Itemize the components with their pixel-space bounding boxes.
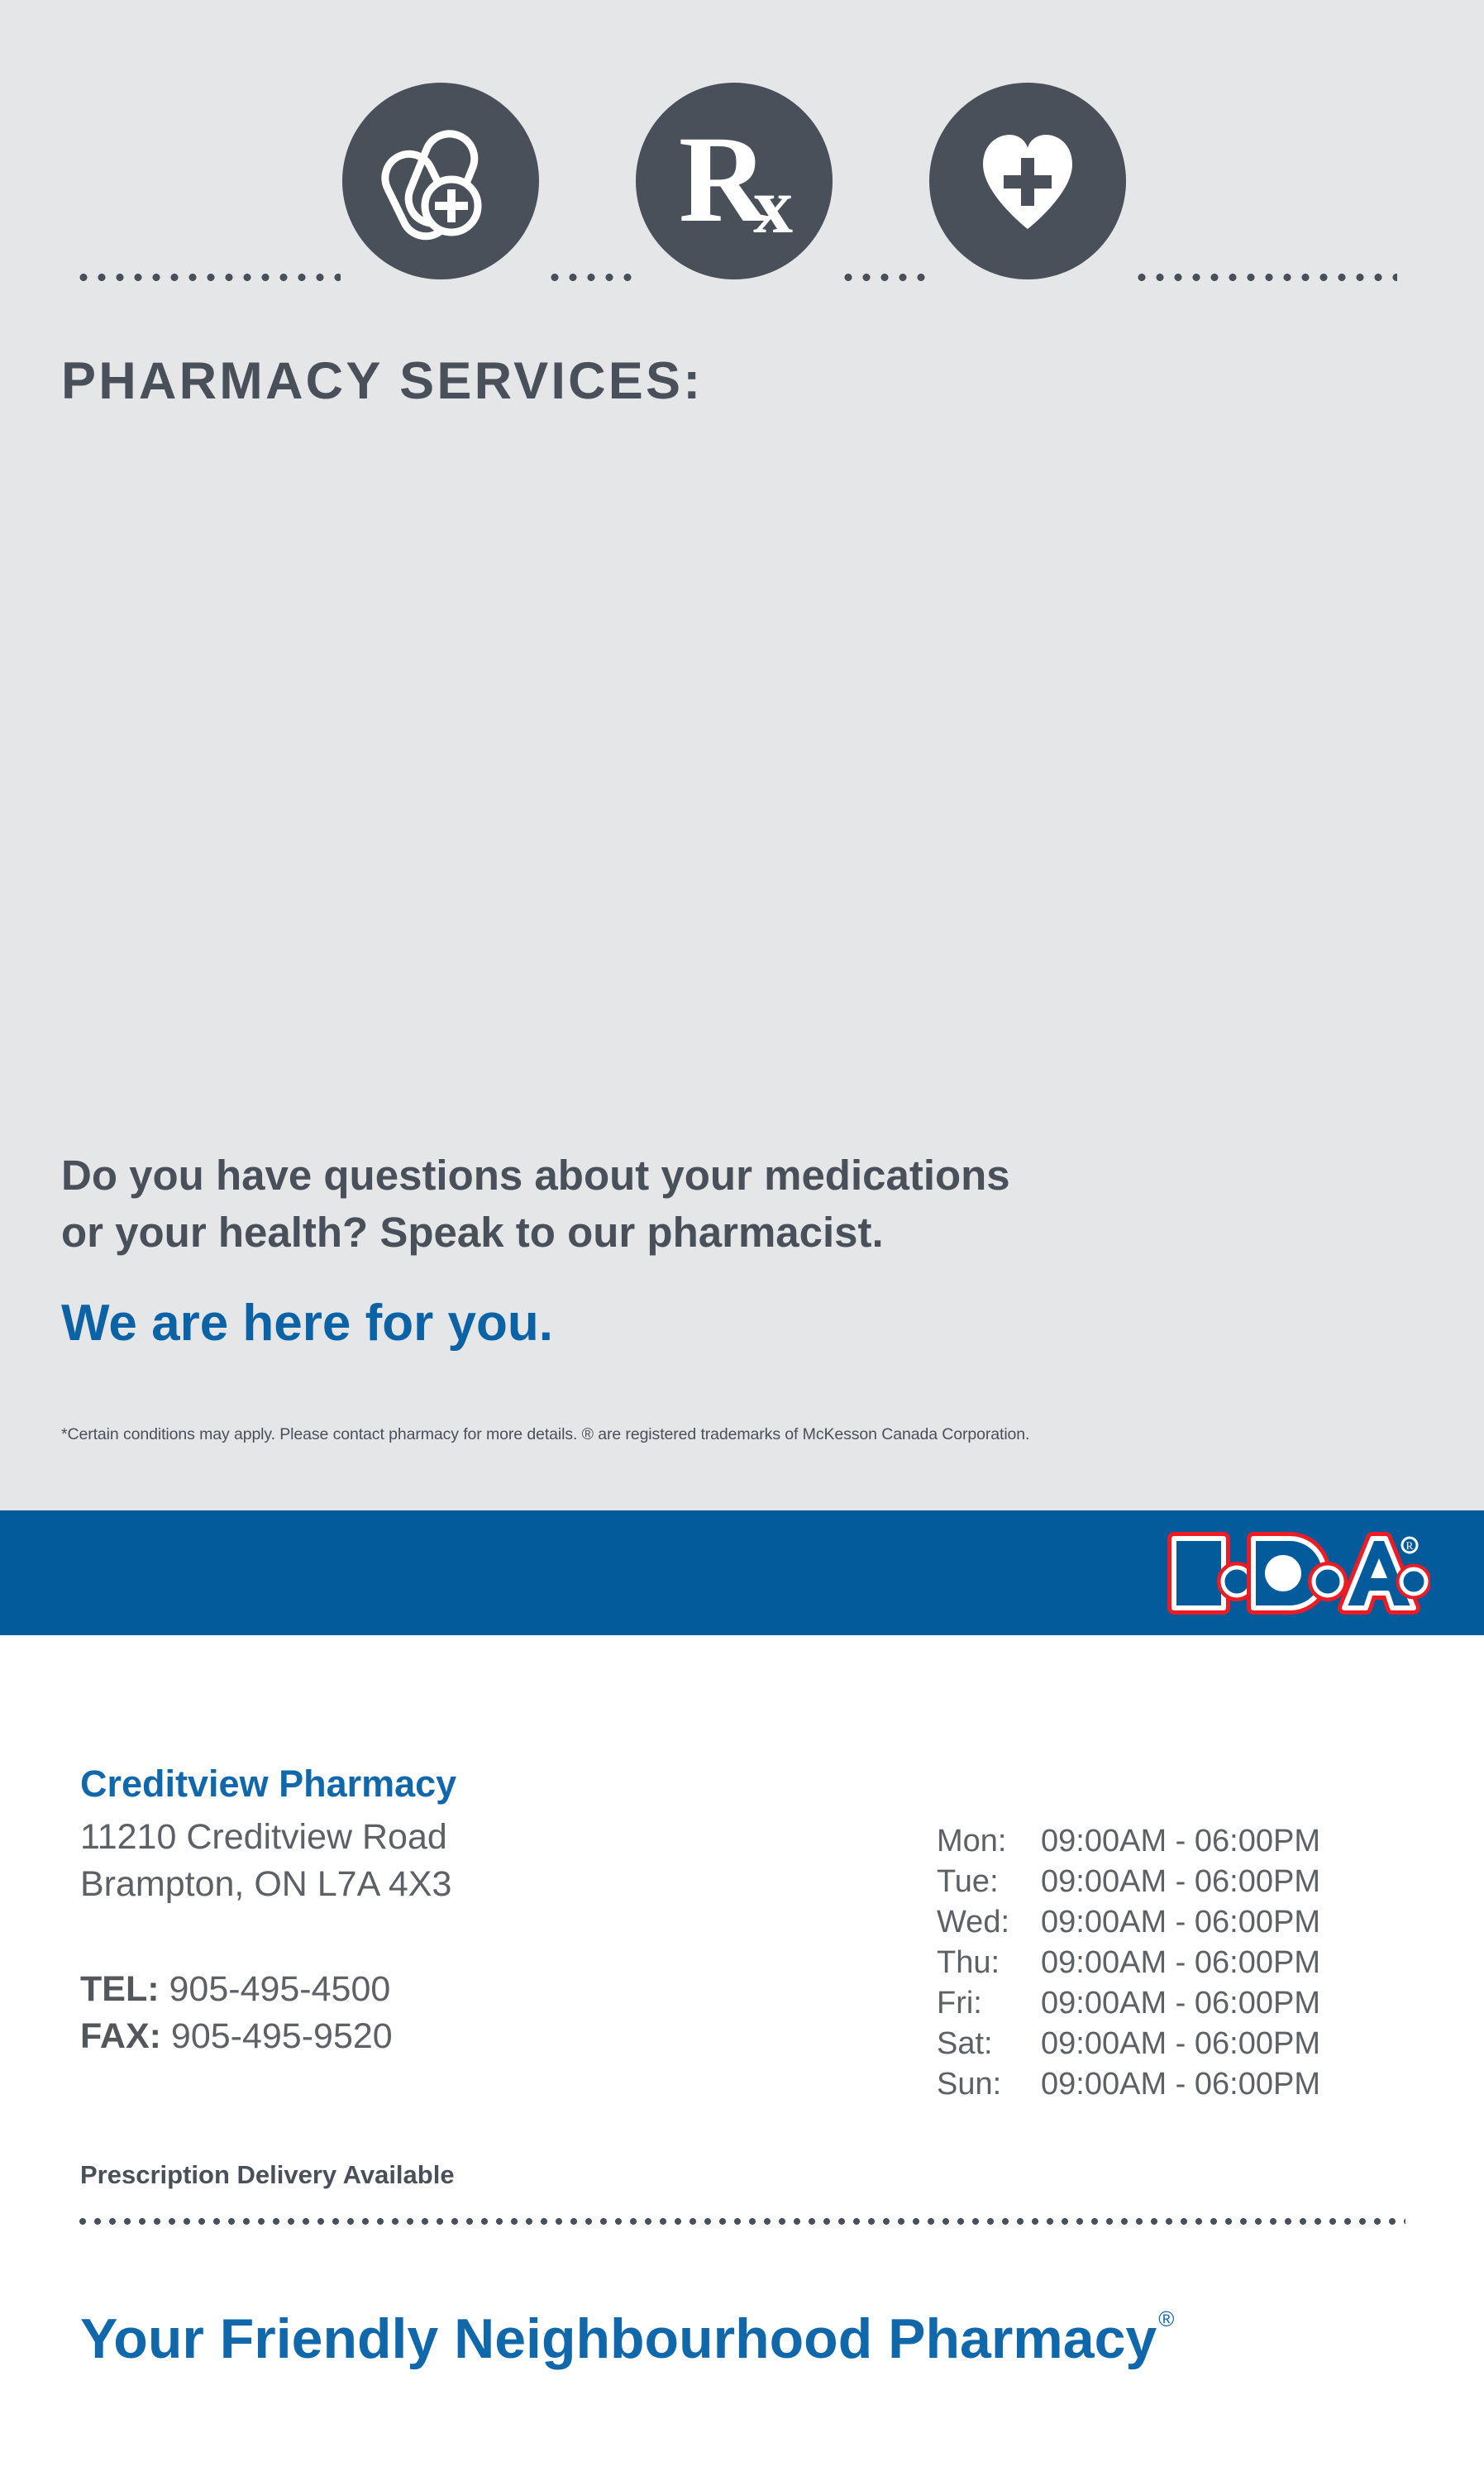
hours-day: Wed:: [937, 1904, 1041, 1944]
pills-plus-icon: [342, 83, 539, 279]
rx-icon: Rx: [636, 83, 833, 279]
pharmacist-question-text: Do you have questions about your medicat…: [61, 1147, 1219, 1262]
rx-letter-r: R: [679, 111, 765, 248]
fax-value: 905-495-9520: [171, 2016, 393, 2056]
dotted-rule-segment-right: [1133, 274, 1397, 281]
hours-time: 09:00AM - 06:00PM: [1041, 1944, 1320, 1985]
table-row: Wed: 09:00AM - 06:00PM: [937, 1904, 1320, 1944]
question-line-2: or your health? Speak to our pharmacist.: [61, 1204, 1219, 1261]
hours-day: Sat:: [937, 2025, 1041, 2066]
delivery-note: Prescription Delivery Available: [80, 2160, 455, 2190]
hours-time: 09:00AM - 06:00PM: [1041, 1823, 1320, 1863]
store-hours-body: Mon: 09:00AM - 06:00PM Tue: 09:00AM - 06…: [937, 1823, 1320, 2107]
hours-day: Thu:: [937, 1944, 1041, 1985]
table-row: Tue: 09:00AM - 06:00PM: [937, 1863, 1320, 1904]
table-row: Mon: 09:00AM - 06:00PM: [937, 1823, 1320, 1863]
store-address: 11210 Creditview Road Brampton, ON L7A 4…: [80, 1814, 451, 1908]
table-row: Sat: 09:00AM - 06:00PM: [937, 2025, 1320, 2066]
table-row: Fri: 09:00AM - 06:00PM: [937, 1985, 1320, 2025]
telephone-row: TEL: 905-495-4500: [80, 1966, 393, 2013]
telephone-label: TEL:: [80, 1969, 160, 2009]
store-name: Creditview Pharmacy: [80, 1763, 456, 1806]
hours-time: 09:00AM - 06:00PM: [1041, 1863, 1320, 1904]
heart-plus-icon: [929, 83, 1126, 279]
store-contact: TEL: 905-495-4500 FAX: 905-495-9520: [80, 1966, 393, 2060]
tagline-text: Your Friendly Neighbourhood Pharmacy: [80, 2307, 1157, 2370]
page-title: PHARMACY SERVICES:: [61, 351, 703, 411]
registered-trademark-symbol: ®: [1158, 2307, 1174, 2331]
svg-text:R: R: [1406, 1539, 1414, 1552]
footer-tagline: Your Friendly Neighbourhood Pharmacy®: [80, 2307, 1172, 2371]
store-hours-table: Mon: 09:00AM - 06:00PM Tue: 09:00AM - 06…: [937, 1823, 1320, 2107]
pharmacy-services-panel: Rx PHARMACY SERVICES: Do you have questi…: [0, 0, 1484, 1510]
ida-logo: R: [1166, 1527, 1430, 1620]
address-line-1: 11210 Creditview Road: [80, 1814, 451, 1861]
hours-time: 09:00AM - 06:00PM: [1041, 2025, 1320, 2066]
hours-day: Sun:: [937, 2066, 1041, 2106]
question-line-1: Do you have questions about your medicat…: [61, 1147, 1219, 1204]
telephone-value[interactable]: 905-495-4500: [169, 1969, 391, 2009]
brand-bar: R: [0, 1510, 1484, 1635]
hours-time: 09:00AM - 06:00PM: [1041, 2066, 1320, 2106]
dotted-rule-segment-mid-right: [839, 274, 930, 281]
legal-disclaimer: *Certain conditions may apply. Please co…: [61, 1425, 1276, 1444]
fax-label: FAX:: [80, 2016, 161, 2056]
footer-divider: [75, 2218, 1405, 2225]
rx-letter-x: x: [753, 161, 790, 250]
dotted-rule-segment-mid-left: [546, 274, 637, 281]
header-icon-strip: Rx: [0, 83, 1484, 298]
table-row: Thu: 09:00AM - 06:00PM: [937, 1944, 1320, 1985]
dotted-rule-segment-left: [74, 274, 341, 281]
promo-headline: We are here for you.: [61, 1294, 553, 1352]
address-line-2: Brampton, ON L7A 4X3: [80, 1861, 451, 1908]
hours-time: 09:00AM - 06:00PM: [1041, 1985, 1320, 2025]
hours-day: Tue:: [937, 1863, 1041, 1904]
fax-row: FAX: 905-495-9520: [80, 2013, 393, 2060]
rx-glyph: Rx: [679, 117, 790, 246]
hours-day: Fri:: [937, 1985, 1041, 2025]
hours-time: 09:00AM - 06:00PM: [1041, 1904, 1320, 1944]
hours-day: Mon:: [937, 1823, 1041, 1863]
table-row: Sun: 09:00AM - 06:00PM: [937, 2066, 1320, 2106]
